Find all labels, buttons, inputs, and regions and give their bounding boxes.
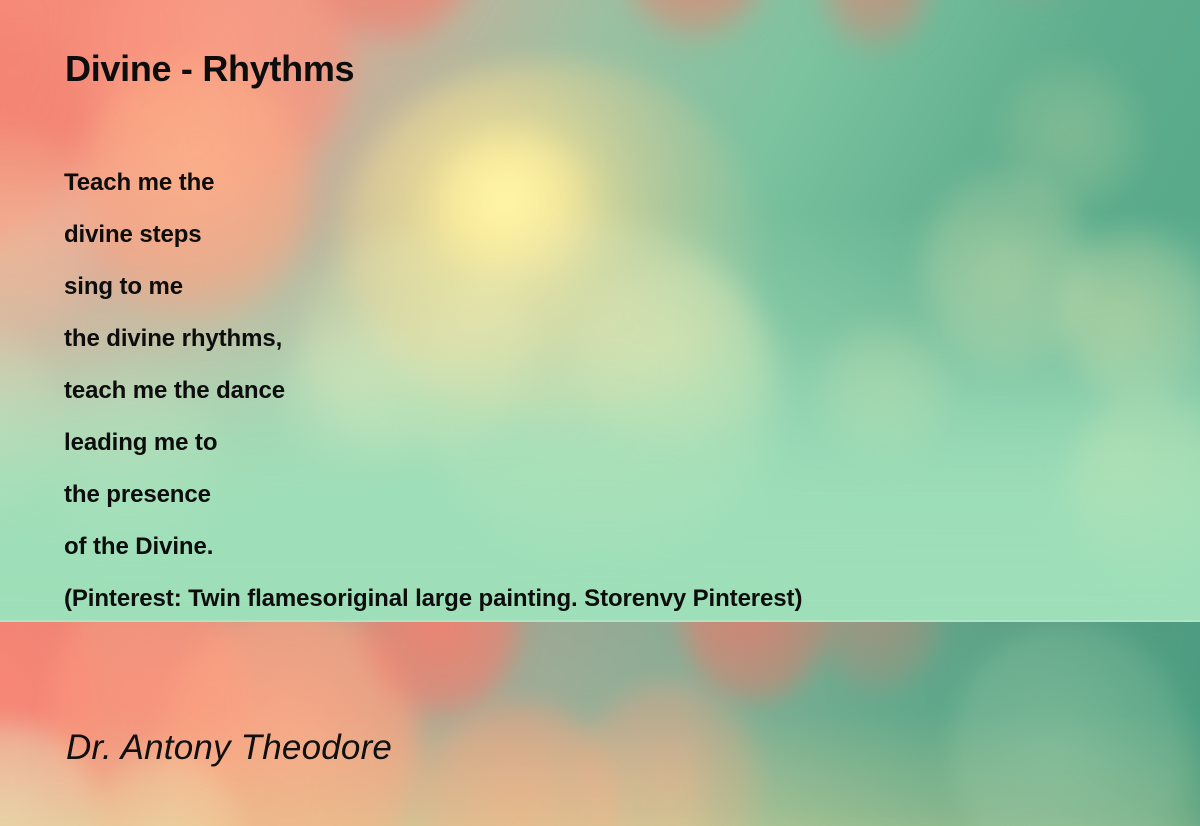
bokeh-circle (0, 320, 60, 520)
bokeh-circle (360, 622, 520, 712)
bokeh-circle (420, 702, 620, 826)
bokeh-circle (160, 622, 420, 826)
bokeh-circle (0, 622, 100, 826)
bokeh-circle (820, 0, 930, 50)
bokeh-circle (50, 622, 250, 826)
bokeh-circle (580, 682, 760, 826)
page-title: Divine - Rhythms (65, 48, 354, 90)
poem-author: Dr. Antony Theodore (66, 728, 392, 768)
poem-attribution-line: (Pinterest: Twin flamesoriginal large pa… (64, 573, 1164, 622)
poem-top-panel: Divine - Rhythms Teach me the divine ste… (0, 0, 1200, 622)
bokeh-circle (680, 622, 830, 702)
poem-line: leading me to (64, 417, 1164, 469)
bokeh-circle (300, 0, 480, 40)
bottom-bokeh-layer (0, 622, 1200, 826)
poem-line: the presence (64, 469, 1164, 521)
poem-author-panel (0, 622, 1200, 826)
bokeh-circle (950, 622, 1190, 826)
bokeh-circle (820, 622, 940, 692)
poem-line: divine steps (64, 209, 1164, 261)
poem-line: Teach me the (64, 157, 1164, 209)
poem-line: teach me the dance (64, 365, 1164, 417)
poem-body: Teach me the divine steps sing to me the… (64, 157, 1164, 622)
poem-line: of the Divine. (64, 521, 1164, 573)
poem-image-card: Divine - Rhythms Teach me the divine ste… (0, 0, 1200, 826)
bottom-teal-wash (700, 622, 1200, 826)
poem-line: sing to me (64, 261, 1164, 313)
bokeh-circle (620, 0, 770, 40)
poem-line: the divine rhythms, (64, 313, 1164, 365)
